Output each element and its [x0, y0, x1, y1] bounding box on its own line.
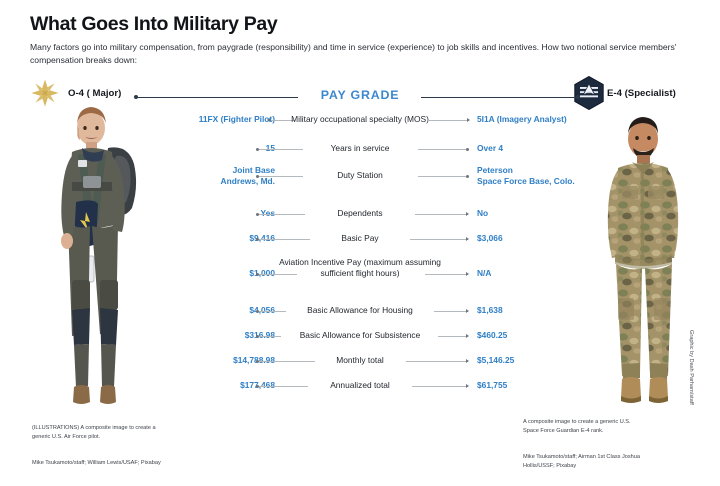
connector-right — [406, 361, 466, 362]
connector-right — [415, 214, 466, 215]
arrow-right-icon — [466, 309, 469, 313]
arrow-right-icon — [466, 212, 469, 216]
air-force-pilot-photo — [42, 104, 154, 414]
pay-grade-section-title: PAY GRADE — [302, 88, 418, 102]
row-right-value: $460.25 — [477, 330, 507, 341]
left-photo-sources: Mike Tsukamoto/staff; William Lewis/USAF… — [32, 459, 272, 468]
row-right-value: No — [477, 208, 488, 219]
row-label: Aviation Incentive Pay (maximum assuming… — [265, 257, 455, 279]
right-rule — [421, 97, 578, 98]
left-photo-caption: (ILLUSTRATIONS) A composite image to cre… — [32, 424, 247, 442]
right-photo-caption: A composite image to create a generic U.… — [523, 418, 698, 436]
connector-right — [410, 239, 466, 240]
page-deck: Many factors go into military compensati… — [30, 41, 680, 65]
row-label: Basic Allowance for Housing — [265, 305, 455, 316]
row-right-value: Over 4 — [477, 143, 503, 154]
left-rule — [137, 97, 298, 98]
arrow-right-icon — [466, 272, 469, 276]
row-label: Military occupational specialty (MOS) — [265, 114, 455, 125]
row-left-value: 11FX (Fighter Pilot) — [199, 114, 275, 125]
connector-right — [418, 149, 466, 150]
connector-right — [429, 120, 467, 121]
arrow-right-icon — [466, 237, 469, 241]
page-title: What Goes Into Military Pay — [30, 14, 690, 35]
right-rule-dot — [576, 95, 580, 99]
infographic-page: What Goes Into Military Pay Many factors… — [0, 0, 720, 486]
left-rank-label: O-4 ( Major) — [68, 88, 121, 99]
right-rank-label: E-4 (Specialist) — [607, 88, 676, 99]
right-photo-sources: Mike Tsukamoto/staff; Airman 1st Class J… — [523, 453, 703, 471]
graphic-credit: Graphic by Dash Parham/staff — [688, 330, 694, 405]
connector-right — [412, 386, 466, 387]
row-right-value: $1,638 — [477, 305, 503, 316]
row-right-value: $3,066 — [477, 233, 503, 244]
connector-right — [425, 274, 466, 275]
header: What Goes Into Military Pay Many factors… — [30, 14, 690, 66]
row-right-value: $61,755 — [477, 380, 507, 391]
space-force-guardian-photo — [596, 112, 692, 414]
arrow-right-icon — [466, 334, 469, 338]
arrow-right-icon — [466, 359, 469, 363]
connector-right — [418, 176, 466, 177]
space-force-specialist-insignia-icon — [574, 76, 604, 110]
arrow-right-icon — [467, 118, 470, 122]
connector-right — [438, 336, 466, 337]
row-label: Basic Allowance for Subsistence — [265, 330, 455, 341]
row-right-value: $5,146.25 — [477, 355, 514, 366]
row-right-value: Peterson Space Force Base, Colo. — [477, 165, 575, 187]
connector-right — [434, 311, 466, 312]
arrow-right-icon — [466, 384, 469, 388]
connector-dot-right — [466, 175, 469, 178]
row-right-value: 5I1A (Imagery Analyst) — [477, 114, 567, 125]
row-right-value: N/A — [477, 268, 491, 279]
connector-dot-right — [466, 148, 469, 151]
